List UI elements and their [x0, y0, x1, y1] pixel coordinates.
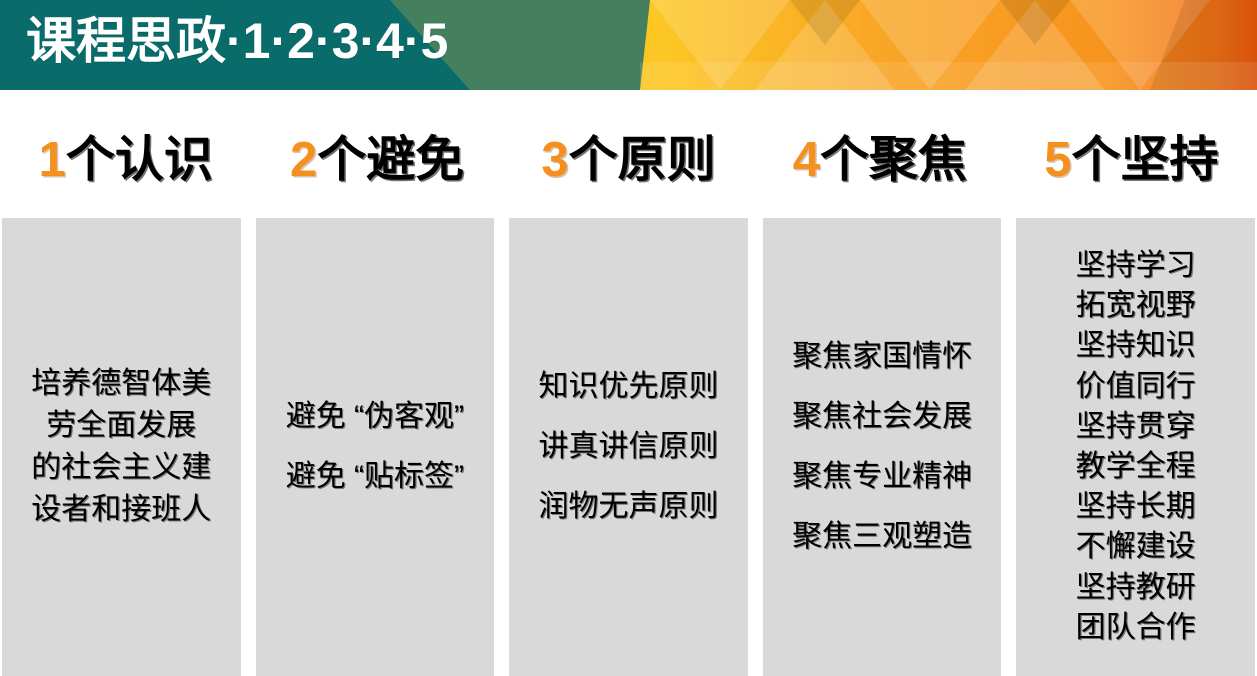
- page-title: 课程思政·1·2·3·4·5: [26, 3, 448, 79]
- column-heading-text-1: 个认识: [66, 136, 213, 185]
- content-line: 教学全程: [1022, 447, 1249, 487]
- column-heading-5: 5个坚持: [1006, 118, 1257, 202]
- column-number-5: 5: [1044, 136, 1071, 185]
- content-line: 团队合作: [1022, 608, 1249, 648]
- column-heading-1: 1个认识: [0, 118, 251, 202]
- content-line: 培养德智体美: [8, 363, 235, 405]
- column-number-3: 3: [541, 136, 568, 185]
- content-line: 坚持教研: [1022, 568, 1249, 608]
- column-heading-4: 4个聚焦: [754, 118, 1005, 202]
- content-line: 坚持贯穿: [1022, 407, 1249, 447]
- content-box-1: 培养德智体美劳全面发展的社会主义建设者和接班人: [2, 218, 241, 676]
- content-box-2: 避免 “伪客观”避免 “贴标签”: [256, 218, 495, 676]
- content-line: 避免 “贴标签”: [262, 447, 489, 507]
- content-line: 聚焦专业精神: [769, 447, 996, 507]
- content-line: 润物无声原则: [515, 477, 742, 537]
- column-number-4: 4: [793, 136, 820, 185]
- content-line: 聚焦家国情怀: [769, 327, 996, 387]
- column-headings: 1个认识 2个避免 3个原则 4个聚焦 5个坚持: [0, 118, 1257, 202]
- content-line: 知识优先原则: [515, 357, 742, 417]
- content-lines-4: 聚焦家国情怀聚焦社会发展聚焦专业精神聚焦三观塑造: [769, 327, 996, 567]
- column-heading-2: 2个避免: [251, 118, 502, 202]
- column-heading-text-4: 个聚焦: [820, 136, 967, 185]
- column-number-1: 1: [39, 136, 66, 185]
- content-line: 劳全面发展: [8, 405, 235, 447]
- column-heading-3: 3个原则: [503, 118, 754, 202]
- content-line: 的社会主义建: [8, 447, 235, 489]
- content-lines-5: 坚持学习拓宽视野坚持知识价值同行坚持贯穿教学全程坚持长期不懈建设坚持教研团队合作: [1022, 246, 1249, 648]
- header-banner: 课程思政·1·2·3·4·5: [0, 0, 1257, 90]
- content-line: 价值同行: [1022, 367, 1249, 407]
- content-line: 避免 “伪客观”: [262, 387, 489, 447]
- content-box-4: 聚焦家国情怀聚焦社会发展聚焦专业精神聚焦三观塑造: [763, 218, 1002, 676]
- content-lines-3: 知识优先原则讲真讲信原则润物无声原则: [515, 357, 742, 537]
- content-box-3: 知识优先原则讲真讲信原则润物无声原则: [509, 218, 748, 676]
- content-line: 坚持学习: [1022, 246, 1249, 286]
- content-line: 坚持长期: [1022, 487, 1249, 527]
- content-box-5: 坚持学习拓宽视野坚持知识价值同行坚持贯穿教学全程坚持长期不懈建设坚持教研团队合作: [1016, 218, 1255, 676]
- content-line: 不懈建设: [1022, 527, 1249, 567]
- content-line: 坚持知识: [1022, 326, 1249, 366]
- content-lines-1: 培养德智体美劳全面发展的社会主义建设者和接班人: [8, 363, 235, 531]
- column-heading-text-5: 个坚持: [1071, 136, 1218, 185]
- content-line: 拓宽视野: [1022, 286, 1249, 326]
- content-line: 聚焦三观塑造: [769, 507, 996, 567]
- content-line: 设者和接班人: [8, 489, 235, 531]
- column-heading-text-2: 个避免: [317, 136, 464, 185]
- slide: 课程思政·1·2·3·4·5 1个认识 2个避免 3个原则 4个聚焦 5个坚持 …: [0, 0, 1257, 676]
- column-number-2: 2: [290, 136, 317, 185]
- content-line: 讲真讲信原则: [515, 417, 742, 477]
- content-line: 聚焦社会发展: [769, 387, 996, 447]
- content-boxes: 培养德智体美劳全面发展的社会主义建设者和接班人 避免 “伪客观”避免 “贴标签”…: [2, 218, 1255, 676]
- content-lines-2: 避免 “伪客观”避免 “贴标签”: [262, 387, 489, 507]
- column-heading-text-3: 个原则: [569, 136, 716, 185]
